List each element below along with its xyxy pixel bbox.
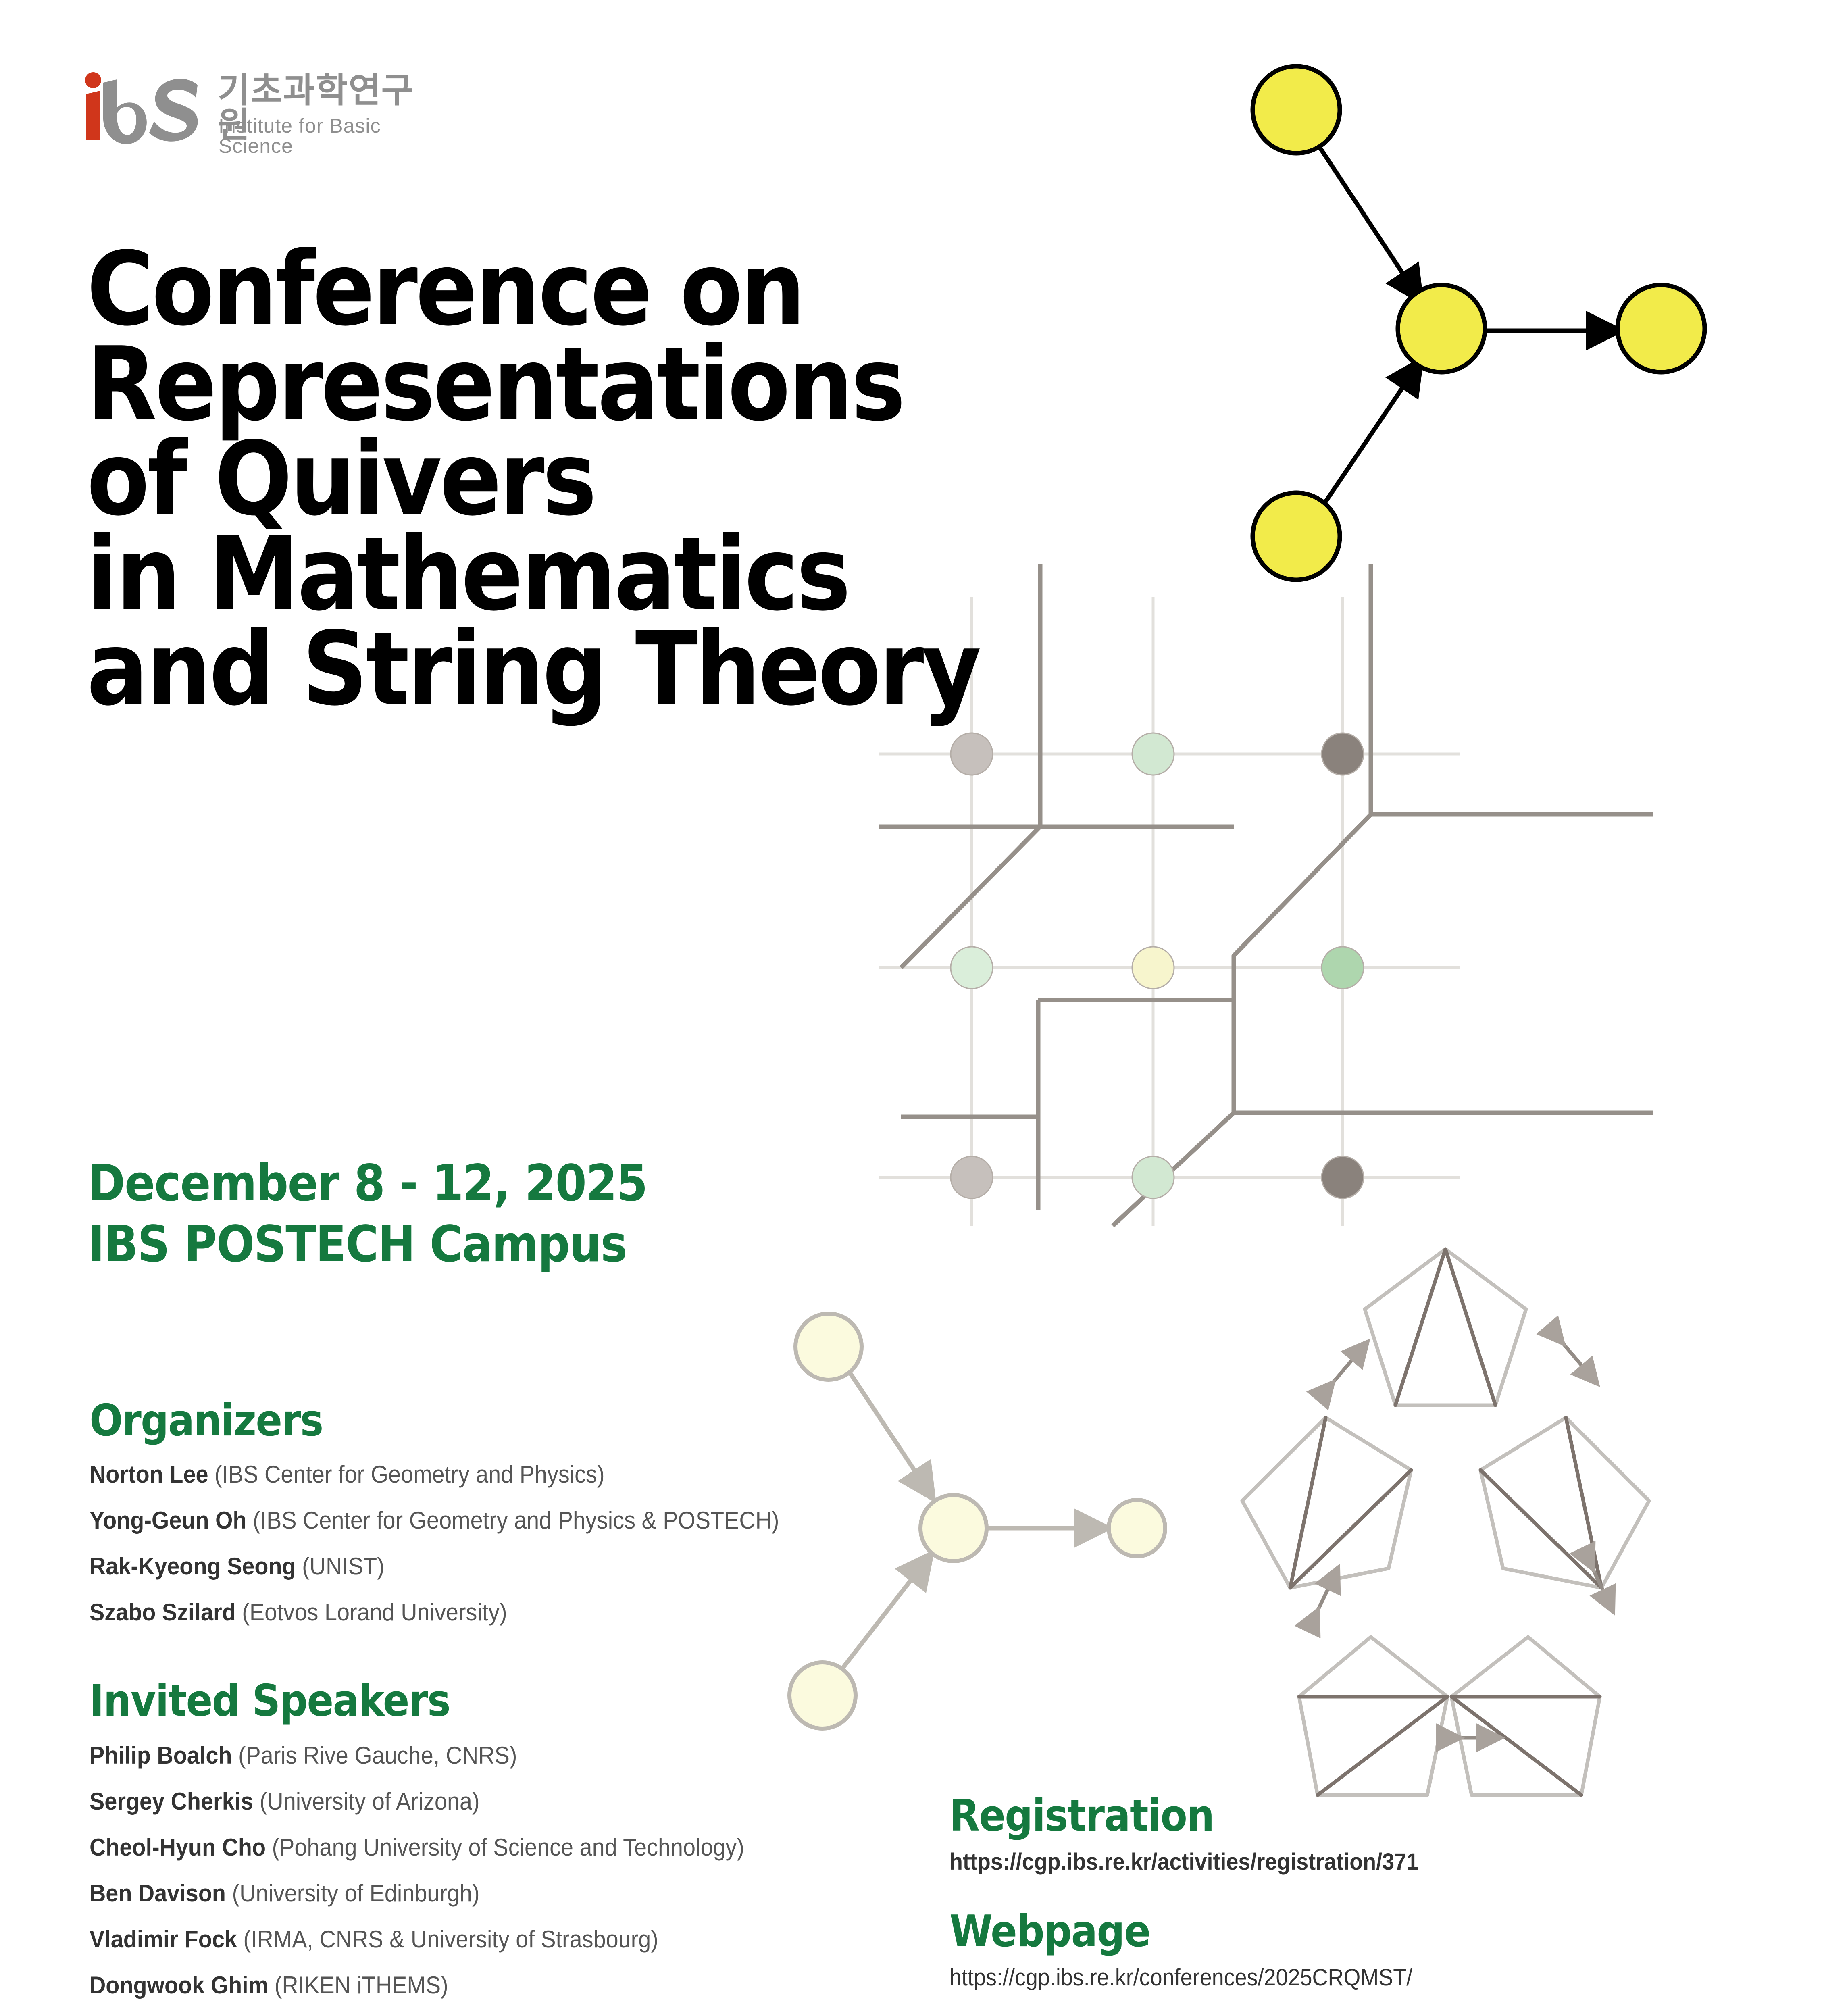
pentagon-flip-diagram — [1242, 1249, 1649, 1795]
person-name: Dongwook Ghim — [90, 1972, 275, 1999]
title-line-5: and String Theory — [87, 622, 1266, 717]
person-affiliation: (University of Arizona) — [260, 1788, 480, 1815]
person-affiliation: (Pohang University of Science and Techno… — [272, 1834, 744, 1861]
registration-heading: Registration — [949, 1794, 1639, 1838]
logo-b — [103, 79, 147, 144]
pentagon-triangulation — [1480, 1418, 1649, 1588]
quiver-node — [1253, 66, 1340, 153]
list-item: Philip Boalch (Paris Rive Gauche, CNRS) — [90, 1733, 800, 1779]
quiver-diagram-faded — [789, 1314, 1165, 1729]
person-affiliation: (University of Edinburgh) — [232, 1880, 480, 1907]
speakers-list: Philip Boalch (Paris Rive Gauche, CNRS)S… — [90, 1733, 853, 2016]
list-item: Ben Davison (University of Edinburgh) — [90, 1870, 800, 1916]
registration-url[interactable]: https://cgp.ibs.re.kr/activities/registr… — [949, 1848, 1662, 1875]
pentagon-triangulation — [1365, 1249, 1526, 1405]
list-item: Yong-Geun Oh (IBS Center for Geometry an… — [90, 1497, 779, 1543]
title-line-4: in Mathematics — [87, 527, 1266, 622]
list-item: Rak-Kyeong Seong (UNIST) — [90, 1543, 779, 1589]
page-title: Conference on Representations of Quivers… — [87, 242, 1397, 717]
quiver-node — [1109, 1500, 1165, 1556]
pentagon-triangulation — [1451, 1637, 1600, 1795]
person-name: Szabo Szilard — [90, 1599, 242, 1626]
pentagon-triangulation — [1242, 1418, 1411, 1588]
title-line-3: of Quivers — [87, 432, 1266, 527]
person-affiliation: (IBS Center for Geometry and Physics) — [214, 1461, 605, 1488]
person-affiliation: (IBS Center for Geometry and Physics & P… — [253, 1507, 779, 1534]
speakers-section: Invited Speakers Philip Boalch (Paris Ri… — [90, 1679, 853, 2016]
quiver-node — [920, 1495, 987, 1561]
person-affiliation: (RIKEN iTHEMS) — [275, 1972, 448, 1999]
ibs-logo-mark — [77, 71, 210, 151]
webpage-url[interactable]: https://cgp.ibs.re.kr/conferences/2025CR… — [949, 1964, 1662, 1991]
title-line-2: Representations — [87, 337, 1266, 432]
pentagon-triangulation — [1299, 1637, 1447, 1795]
list-item: Sergey Cherkis (University of Arizona) — [90, 1779, 800, 1824]
person-name: Philip Boalch — [90, 1742, 238, 1769]
quiver-node — [1398, 285, 1485, 372]
person-affiliation: (Eotvos Lorand University) — [242, 1599, 507, 1626]
list-item: Adam Gyenge (Budapest University of Tech… — [90, 2008, 800, 2016]
organizers-section: Organizers Norton Lee (IBS Center for Ge… — [90, 1399, 831, 1635]
person-name: Sergey Cherkis — [90, 1788, 260, 1815]
quiver-node — [795, 1314, 862, 1380]
organizers-list: Norton Lee (IBS Center for Geometry and … — [90, 1452, 831, 1635]
quiver-node — [1618, 285, 1705, 372]
conference-campus: IBS POSTECH Campus — [88, 1214, 647, 1275]
conference-dates: December 8 - 12, 2025 — [88, 1153, 647, 1214]
person-name: Cheol-Hyun Cho — [90, 1834, 272, 1861]
logo-s — [149, 79, 198, 141]
speakers-heading: Invited Speakers — [90, 1679, 777, 1723]
person-name: Ben Davison — [90, 1880, 232, 1907]
person-name: Rak-Kyeong Seong — [90, 1553, 302, 1580]
person-name: Norton Lee — [90, 1461, 214, 1488]
title-line-1: Conference on — [87, 242, 1266, 337]
date-venue-block: December 8 - 12, 2025 IBS POSTECH Campus — [88, 1153, 709, 1275]
organizers-heading: Organizers — [90, 1399, 757, 1443]
person-name: Yong-Geun Oh — [90, 1507, 253, 1534]
list-item: Dongwook Ghim (RIKEN iTHEMS) — [90, 1962, 800, 2008]
person-affiliation: (Paris Rive Gauche, CNRS) — [238, 1742, 517, 1769]
ibs-logo-english: Institute for Basic Science — [219, 116, 439, 156]
info-column: Registration https://cgp.ibs.re.kr/activ… — [949, 1794, 1716, 2016]
list-item: Vladimir Fock (IRMA, CNRS & University o… — [90, 1916, 800, 1962]
ibs-logo: 기초과학연구원 Institute for Basic Science — [77, 71, 439, 151]
webpage-heading: Webpage — [949, 1910, 1639, 1954]
registration-block: Registration https://cgp.ibs.re.kr/activ… — [949, 1794, 1716, 1875]
brane-node — [951, 733, 1364, 1198]
list-item: Cheol-Hyun Cho (Pohang University of Sci… — [90, 1824, 800, 1870]
person-affiliation: (IRMA, CNRS & University of Strasbourg) — [243, 1926, 658, 1953]
logo-i-dot — [85, 72, 101, 88]
person-name: Vladimir Fock — [90, 1926, 243, 1953]
logo-i-stem — [86, 91, 100, 140]
list-item: Szabo Szilard (Eotvos Lorand University) — [90, 1589, 779, 1635]
person-affiliation: (UNIST) — [302, 1553, 385, 1580]
webpage-block: Webpage https://cgp.ibs.re.kr/conference… — [949, 1910, 1716, 1991]
list-item: Norton Lee (IBS Center for Geometry and … — [90, 1452, 779, 1497]
